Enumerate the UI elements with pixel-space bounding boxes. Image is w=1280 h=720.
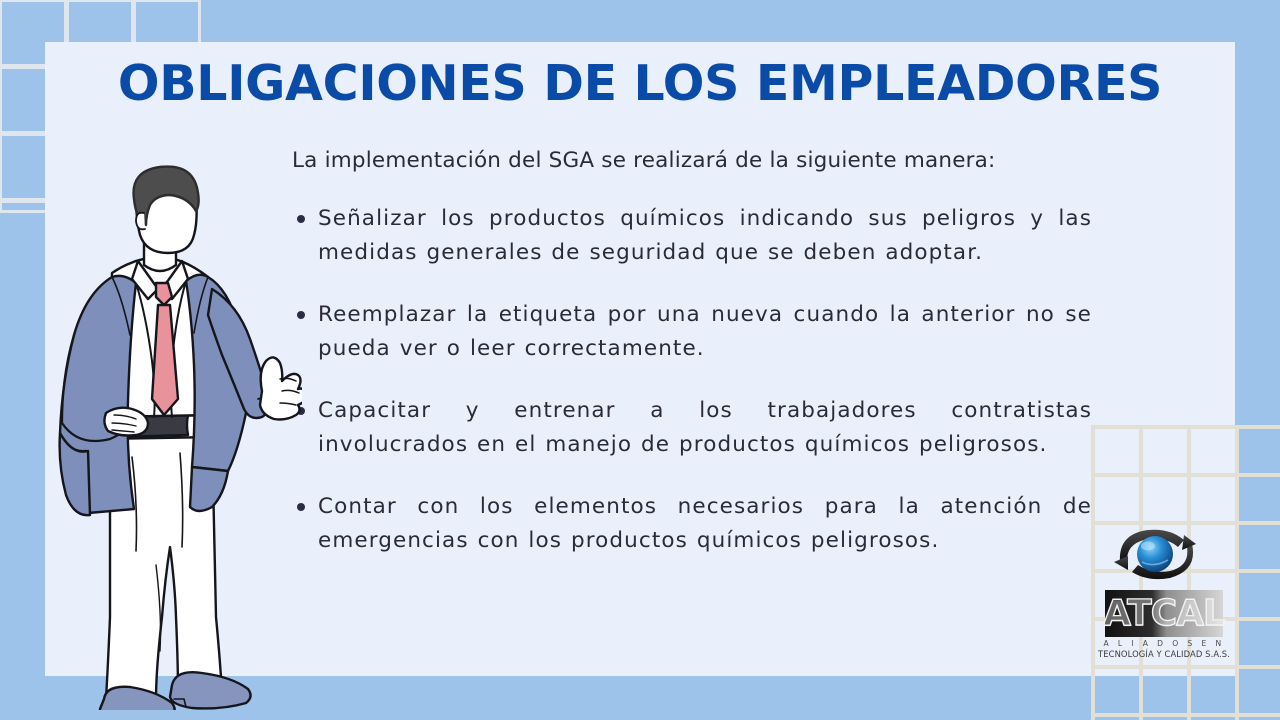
atcal-wordmark-text: ATCAL <box>1105 590 1223 637</box>
atcal-wordmark: ATCAL <box>1105 590 1223 637</box>
intro-paragraph: La implementación del SGA se realizará d… <box>292 146 1092 176</box>
page-title: OBLIGACIONES DE LOS EMPLEADORES <box>45 55 1235 112</box>
businessman-illustration <box>52 165 302 710</box>
list-item: Señalizar los productos químicos indican… <box>292 202 1092 269</box>
obligations-list: Señalizar los productos químicos indican… <box>292 202 1092 557</box>
atcal-globe-icon <box>1098 522 1230 584</box>
list-item: Capacitar y entrenar a los trabajadores … <box>292 394 1092 461</box>
slide-canvas: OBLIGACIONES DE LOS EMPLEADORES La imple… <box>0 0 1280 720</box>
list-item: Contar con los elementos necesarios para… <box>292 490 1092 557</box>
atcal-tagline-top: A L I A D O S E N <box>1098 639 1230 648</box>
list-item: Reemplazar la etiqueta por una nueva cua… <box>292 298 1092 365</box>
atcal-logo: ATCAL A L I A D O S E N TECNOLOGÍA Y CAL… <box>1098 522 1230 659</box>
atcal-tagline-bottom: TECNOLOGÍA Y CALIDAD S.A.S. <box>1098 649 1230 659</box>
body-content: La implementación del SGA se realizará d… <box>292 146 1092 557</box>
